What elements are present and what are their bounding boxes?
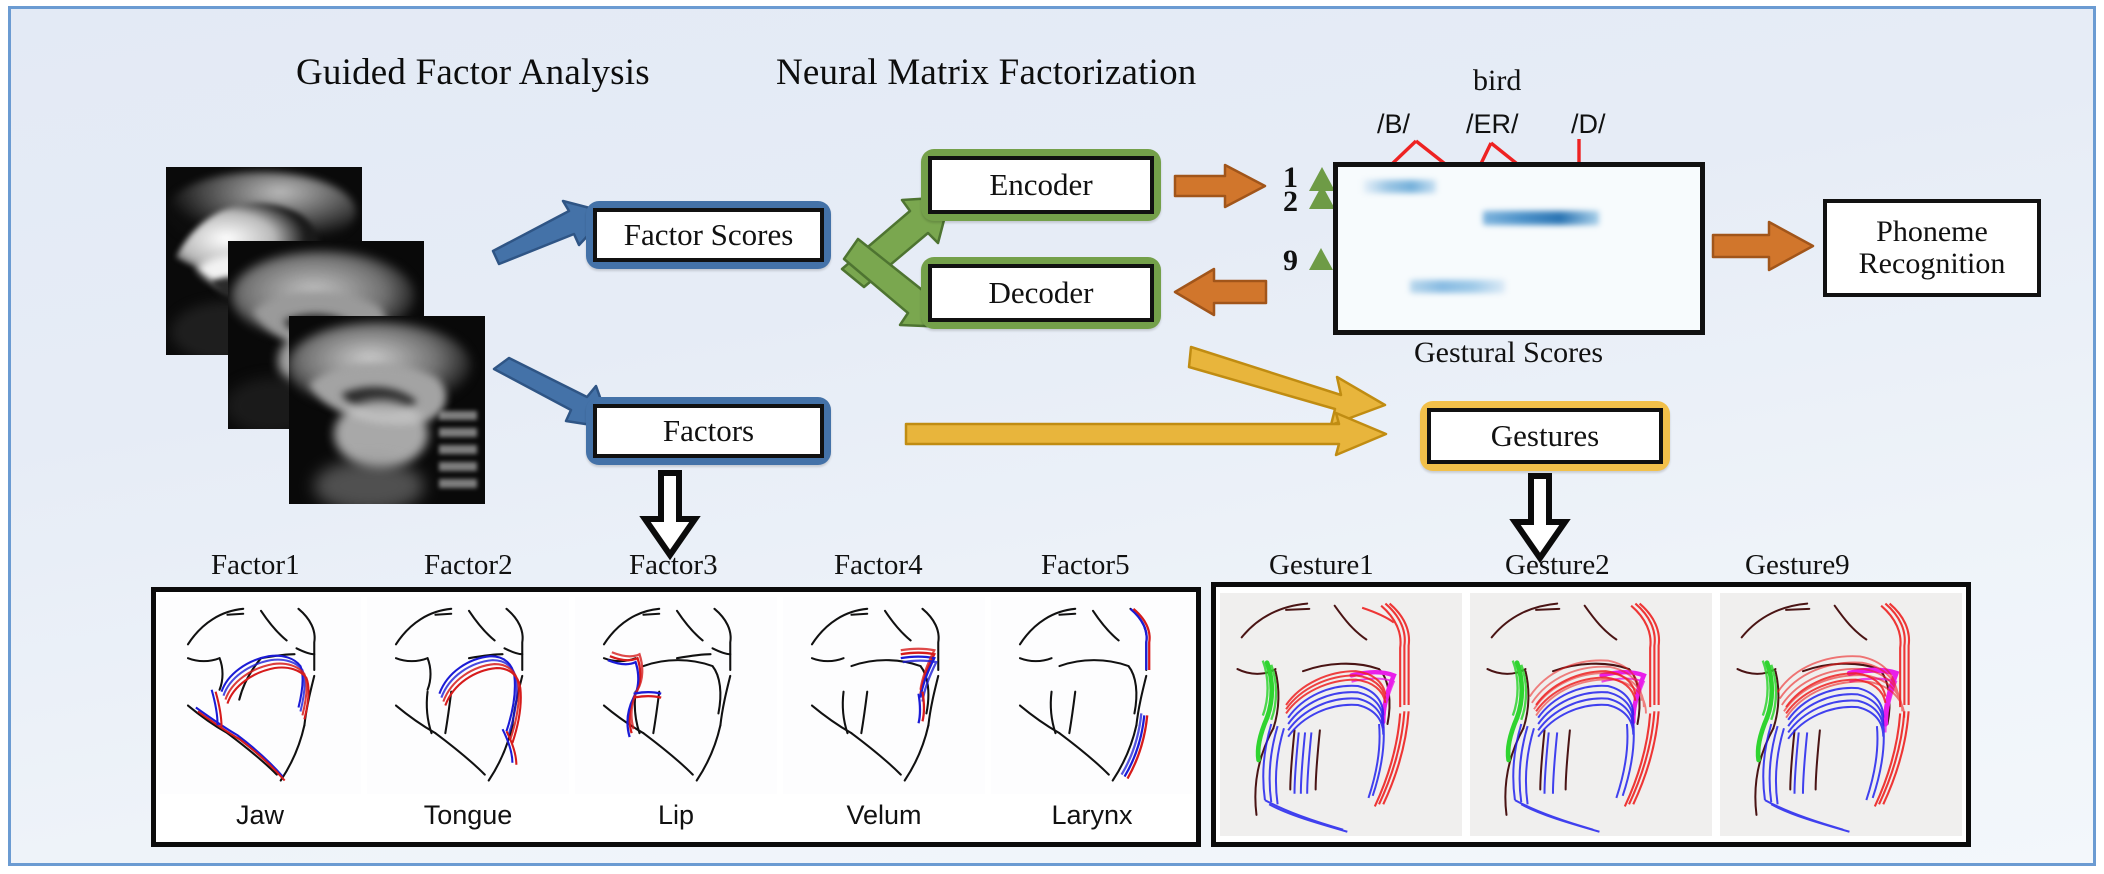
gesture-column-1[interactable] xyxy=(1220,593,1462,836)
factor-bottom-label-3: Lip xyxy=(658,794,694,837)
phoneme-recognition-box[interactable]: Phoneme Recognition xyxy=(1823,199,2041,297)
orange-arrow-encoder-to-scores xyxy=(1173,164,1268,212)
factor-bottom-label-1: Jaw xyxy=(236,794,284,837)
encoder-box[interactable]: Encoder xyxy=(921,149,1161,221)
page-title-left: Guided Factor Analysis xyxy=(296,51,650,94)
gesture-top-label-9: Gesture9 xyxy=(1745,549,1850,582)
phoneme-recognition-line2: Recognition xyxy=(1859,248,2006,280)
orange-arrow-scores-to-decoder xyxy=(1173,267,1268,319)
factor-bottom-label-2: Tongue xyxy=(424,794,513,837)
mri-image-3 xyxy=(289,316,485,504)
factor-top-label-5: Factor5 xyxy=(1041,549,1130,582)
green-triangle-marker-2 xyxy=(1309,185,1335,209)
vocal-tract-diagram-velum xyxy=(783,597,985,794)
gestural-row-label-2: 2 xyxy=(1283,185,1298,219)
gestural-row-label-9: 9 xyxy=(1283,244,1298,278)
gesture-column-2[interactable] xyxy=(1470,593,1712,836)
factor-scores-label: Factor Scores xyxy=(593,208,824,262)
factor-scores-box[interactable]: Factor Scores xyxy=(586,201,831,269)
vocal-tract-diagram-lip xyxy=(575,597,777,794)
gesture-top-label-1: Gesture1 xyxy=(1269,549,1374,582)
gesture-column-9[interactable] xyxy=(1720,593,1962,836)
word-label-bird: bird xyxy=(1473,64,1521,98)
green-triangle-marker-9 xyxy=(1309,248,1333,270)
gestural-scores-caption: Gestural Scores xyxy=(1414,336,1603,370)
down-arrow-factors xyxy=(639,471,701,559)
decoder-label: Decoder xyxy=(928,264,1154,322)
gesture-tract-diagram-1 xyxy=(1220,593,1462,836)
vocal-tract-diagram-larynx xyxy=(991,597,1193,794)
factor-column-1[interactable]: Jaw xyxy=(159,597,361,837)
factor-visualization-panel[interactable]: Jaw xyxy=(151,587,1201,847)
gesture-top-label-2: Gesture2 xyxy=(1505,549,1610,582)
factors-label: Factors xyxy=(593,404,824,458)
yellow-arrow-straight-to-gestures xyxy=(904,412,1389,458)
orange-arrow-to-phoneme-recognition xyxy=(1711,221,1816,273)
factor-top-label-3: Factor3 xyxy=(629,549,718,582)
vocal-tract-diagram-tongue xyxy=(367,597,569,794)
gesture-bar-row2 xyxy=(1483,211,1599,225)
factor-column-2[interactable]: Tongue xyxy=(367,597,569,837)
factor-column-4[interactable]: Velum xyxy=(783,597,985,837)
factor-column-3[interactable]: Lip xyxy=(575,597,777,837)
gesture-bar-row9 xyxy=(1410,280,1504,293)
factors-box[interactable]: Factors xyxy=(586,397,831,465)
mri-frame-3 xyxy=(289,316,485,504)
factor-top-label-1: Factor1 xyxy=(211,549,300,582)
gesture-bar-row1 xyxy=(1363,180,1435,193)
encoder-label: Encoder xyxy=(928,156,1154,214)
page-title-right: Neural Matrix Factorization xyxy=(776,51,1196,94)
gestures-box[interactable]: Gestures xyxy=(1420,401,1670,471)
figure-frame: Guided Factor Analysis Neural Matrix Fac… xyxy=(8,6,2096,866)
gesture-tract-diagram-2 xyxy=(1470,593,1712,836)
phoneme-recognition-line1: Phoneme xyxy=(1876,216,1988,248)
gestural-scores-heatmap[interactable] xyxy=(1333,162,1705,335)
vocal-tract-diagram-jaw xyxy=(159,597,361,794)
factor-top-label-2: Factor2 xyxy=(424,549,513,582)
gestures-label: Gestures xyxy=(1427,408,1663,464)
figure-canvas: Guided Factor Analysis Neural Matrix Fac… xyxy=(0,0,2104,874)
gesture-tract-diagram-9 xyxy=(1720,593,1962,836)
factor-top-label-4: Factor4 xyxy=(834,549,923,582)
gesture-visualization-panel[interactable] xyxy=(1211,582,1971,847)
factor-column-5[interactable]: Larynx xyxy=(991,597,1193,837)
factor-bottom-label-5: Larynx xyxy=(1051,794,1132,837)
factor-bottom-label-4: Velum xyxy=(846,794,921,837)
decoder-box[interactable]: Decoder xyxy=(921,257,1161,329)
